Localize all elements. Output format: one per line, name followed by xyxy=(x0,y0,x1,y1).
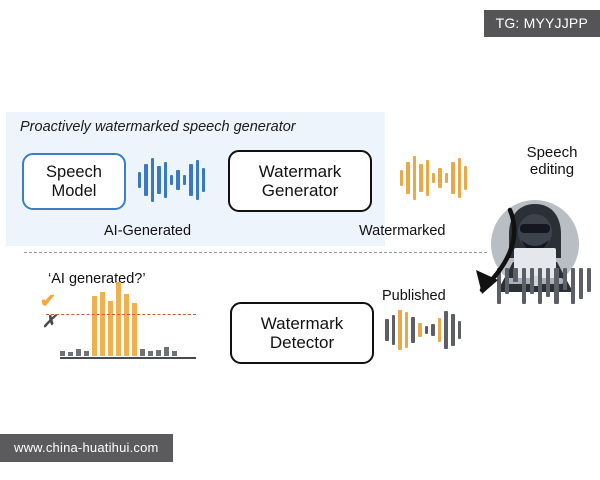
detector-bar xyxy=(172,351,177,356)
detector-chart-axis xyxy=(60,357,196,360)
speech-model-label-line2: Model xyxy=(52,182,97,200)
watermarked-caption: Watermarked xyxy=(359,223,445,239)
waveform-bar xyxy=(405,312,409,348)
published-waveform xyxy=(385,310,461,350)
watermark-detector-chart xyxy=(60,280,196,362)
waveform-bar xyxy=(419,164,422,191)
check-mark-icon: ✔ xyxy=(40,290,56,313)
watermark-generator-label-line2: Generator xyxy=(262,181,339,200)
detector-bar xyxy=(116,282,121,356)
watermark-detector-box[interactable]: Watermark Detector xyxy=(230,302,374,364)
detector-bar xyxy=(100,292,105,356)
waveform-bar xyxy=(138,172,141,189)
detector-bar xyxy=(140,349,145,356)
waveform-bar xyxy=(176,170,179,191)
watermark-detector-label-line1: Watermark xyxy=(261,314,344,333)
waveform-bar xyxy=(458,158,461,198)
watermark-generator-label-line1: Watermark xyxy=(259,162,342,181)
cross-mark-icon: ✗ xyxy=(42,312,56,332)
detector-bar xyxy=(68,352,73,356)
published-caption: Published xyxy=(382,288,446,304)
waveform-bar xyxy=(438,318,442,341)
ai-generated-waveform xyxy=(138,158,205,202)
speech-editing-caption: Speech editing xyxy=(506,144,598,179)
detector-bar xyxy=(124,294,129,356)
waveform-bar xyxy=(170,175,173,185)
waveform-bar xyxy=(451,162,454,193)
waveform-bar xyxy=(571,268,575,304)
waveform-bar xyxy=(587,268,591,292)
waveform-bar xyxy=(392,315,396,344)
waveform-bar xyxy=(464,166,467,189)
waveform-bar xyxy=(431,324,435,337)
tg-badge: TG: MYYJJPP xyxy=(484,10,600,37)
waveform-bar xyxy=(451,314,455,346)
speech-editing-arrow-icon xyxy=(452,206,532,306)
detector-bar xyxy=(84,351,89,356)
waveform-bar xyxy=(400,170,403,187)
waveform-bar xyxy=(425,326,429,334)
waveform-bar xyxy=(444,311,448,349)
detector-bar xyxy=(132,303,137,356)
detector-bar xyxy=(108,301,113,357)
waveform-bar xyxy=(432,173,435,183)
watermarked-waveform xyxy=(400,156,467,200)
waveform-bar xyxy=(406,162,409,193)
waveform-bar xyxy=(385,319,389,340)
ai-generated-caption: AI-Generated xyxy=(104,223,191,239)
waveform-bar xyxy=(546,268,550,297)
speech-model-box[interactable]: Speech Model xyxy=(22,153,126,210)
watermark-generator-box[interactable]: Watermark Generator xyxy=(228,150,372,212)
waveform-bar xyxy=(196,160,199,200)
speech-model-label-line1: Speech xyxy=(46,163,102,181)
waveform-bar xyxy=(538,268,542,304)
waveform-bar xyxy=(563,268,567,290)
watermark-detector-label-line2: Detector xyxy=(270,333,334,352)
waveform-bar xyxy=(411,317,415,342)
waveform-bar xyxy=(554,268,558,304)
figure-canvas: Proactively watermarked speech generator… xyxy=(0,0,600,480)
waveform-bar xyxy=(164,162,167,198)
detector-bar xyxy=(76,349,81,356)
speech-editing-line2: editing xyxy=(530,161,574,178)
waveform-bar xyxy=(458,321,462,340)
waveform-bar xyxy=(157,166,160,193)
waveform-bar xyxy=(202,168,205,191)
generator-panel-title: Proactively watermarked speech generator xyxy=(20,119,296,135)
waveform-bar xyxy=(189,164,192,195)
waveform-bar xyxy=(151,158,154,202)
detector-bar xyxy=(156,350,161,356)
waveform-bar xyxy=(445,173,448,183)
waveform-bar xyxy=(438,168,441,189)
waveform-bar xyxy=(398,310,402,350)
detector-chart-bars xyxy=(60,282,196,356)
detector-bar xyxy=(148,351,153,356)
detector-bar xyxy=(164,347,169,356)
waveform-bar xyxy=(579,268,583,299)
waveform-bar xyxy=(144,164,147,195)
waveform-bar xyxy=(426,160,429,196)
speech-editing-line1: Speech xyxy=(527,144,578,161)
detector-threshold-line xyxy=(46,314,196,315)
section-divider xyxy=(24,252,487,253)
site-watermark-badge: www.china-huatihui.com xyxy=(0,434,173,462)
waveform-bar xyxy=(418,323,422,338)
detector-bar xyxy=(92,296,97,356)
waveform-bar xyxy=(413,156,416,200)
waveform-bar xyxy=(183,175,186,185)
detector-bar xyxy=(60,351,65,356)
